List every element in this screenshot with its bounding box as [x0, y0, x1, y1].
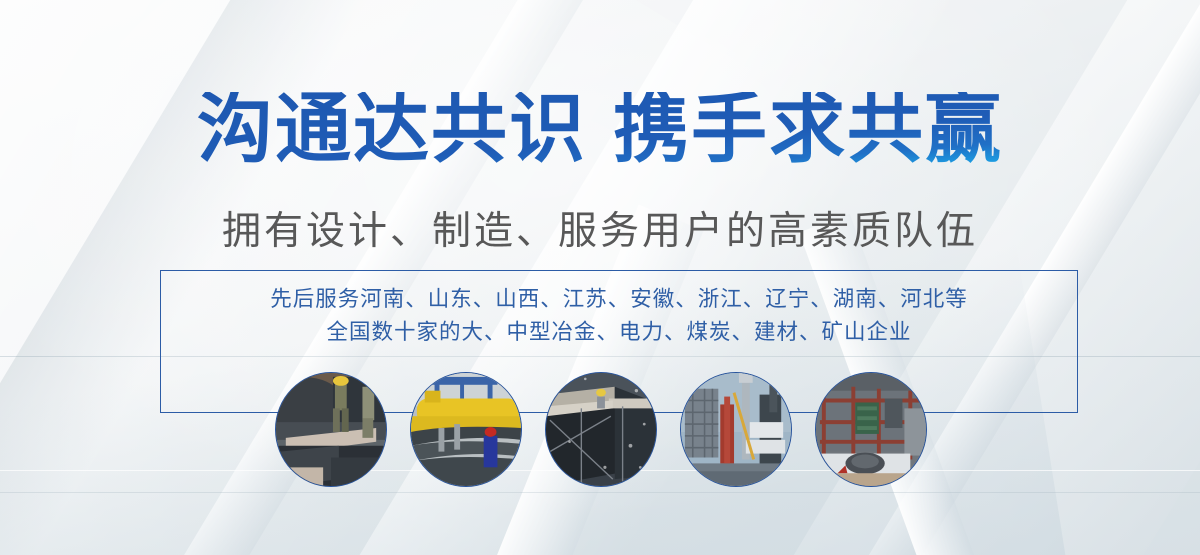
photo-circle-row [275, 372, 935, 487]
photo-steel-structure-snow [545, 372, 657, 487]
info-box-line-1: 先后服务河南、山东、山西、江苏、安徽、浙江、辽宁、湖南、河北等 [160, 283, 1078, 316]
photo-plant-construction [680, 372, 792, 487]
banner-headline: 沟通达共识携手求共赢 [0, 92, 1200, 168]
photo-steel-plate-welding [275, 372, 387, 487]
info-box-line-2: 全国数十家的大、中型冶金、电力、煤炭、建材、矿山企业 [160, 316, 1078, 349]
photo-yellow-equipment-pipes [410, 372, 522, 487]
headline-part-2: 携手求共赢 [613, 87, 1003, 172]
info-box-text: 先后服务河南、山东、山西、江苏、安徽、浙江、辽宁、湖南、河北等 全国数十家的大、… [160, 283, 1078, 349]
headline-part-1: 沟通达共识 [197, 87, 587, 172]
banner-subtitle: 拥有设计、制造、服务用户的高素质队伍 [0, 200, 1200, 256]
photo-workshop-interior [815, 372, 927, 487]
promo-banner: 沟通达共识携手求共赢 拥有设计、制造、服务用户的高素质队伍 先后服务河南、山东、… [0, 0, 1200, 555]
